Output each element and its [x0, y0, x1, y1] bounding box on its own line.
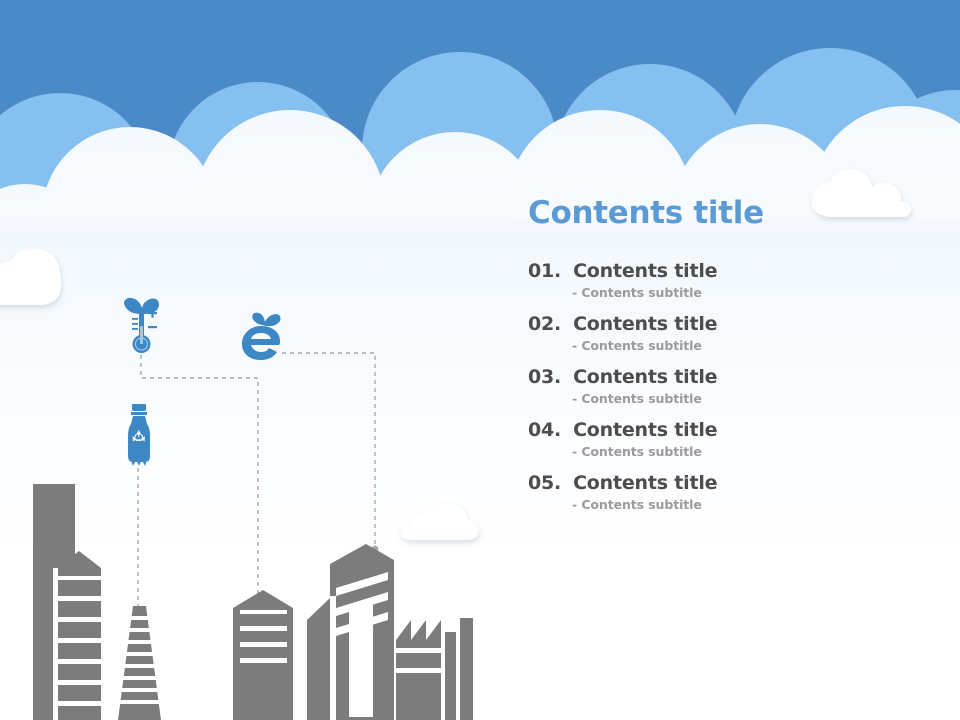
list-item[interactable]: 03. Contents title - Contents subtitle [528, 366, 928, 406]
toc-number: 04. [528, 419, 561, 441]
page-title: Contents title [528, 196, 928, 230]
list-item[interactable]: 05. Contents title - Contents subtitle [528, 472, 928, 512]
contents-panel: Contents title 01. Contents title - Cont… [528, 196, 928, 522]
thermometer-plant-icon [118, 296, 170, 358]
building-angled [307, 598, 330, 720]
eco-e-leaf-icon [238, 310, 288, 360]
toc-number: 05. [528, 472, 561, 494]
toc-number: 02. [528, 313, 561, 335]
toc-subtitle: - Contents subtitle [572, 444, 928, 459]
building-thin-a [444, 632, 456, 720]
building-warehouse [233, 590, 293, 720]
cityscape-silhouette [0, 420, 500, 720]
building-thin-b [459, 618, 473, 720]
toc-subtitle: - Contents subtitle [572, 285, 928, 300]
toc-label: Contents title [573, 260, 717, 282]
toc-row: 05. Contents title [528, 472, 928, 494]
toc-label: Contents title [573, 366, 717, 388]
toc-row: 04. Contents title [528, 419, 928, 441]
toc-label: Contents title [573, 472, 717, 494]
slide-contents: Contents title 01. Contents title - Cont… [0, 0, 960, 720]
toc-subtitle: - Contents subtitle [572, 338, 928, 353]
toc-number: 03. [528, 366, 561, 388]
toc-row: 02. Contents title [528, 313, 928, 335]
toc-number: 01. [528, 260, 561, 282]
list-item[interactable]: 02. Contents title - Contents subtitle [528, 313, 928, 353]
toc-row: 01. Contents title [528, 260, 928, 282]
list-item[interactable]: 01. Contents title - Contents subtitle [528, 260, 928, 300]
list-item[interactable]: 04. Contents title - Contents subtitle [528, 419, 928, 459]
toc-subtitle: - Contents subtitle [572, 497, 928, 512]
toc-row: 03. Contents title [528, 366, 928, 388]
toc-subtitle: - Contents subtitle [572, 391, 928, 406]
toc-label: Contents title [573, 313, 717, 335]
toc-label: Contents title [573, 419, 717, 441]
